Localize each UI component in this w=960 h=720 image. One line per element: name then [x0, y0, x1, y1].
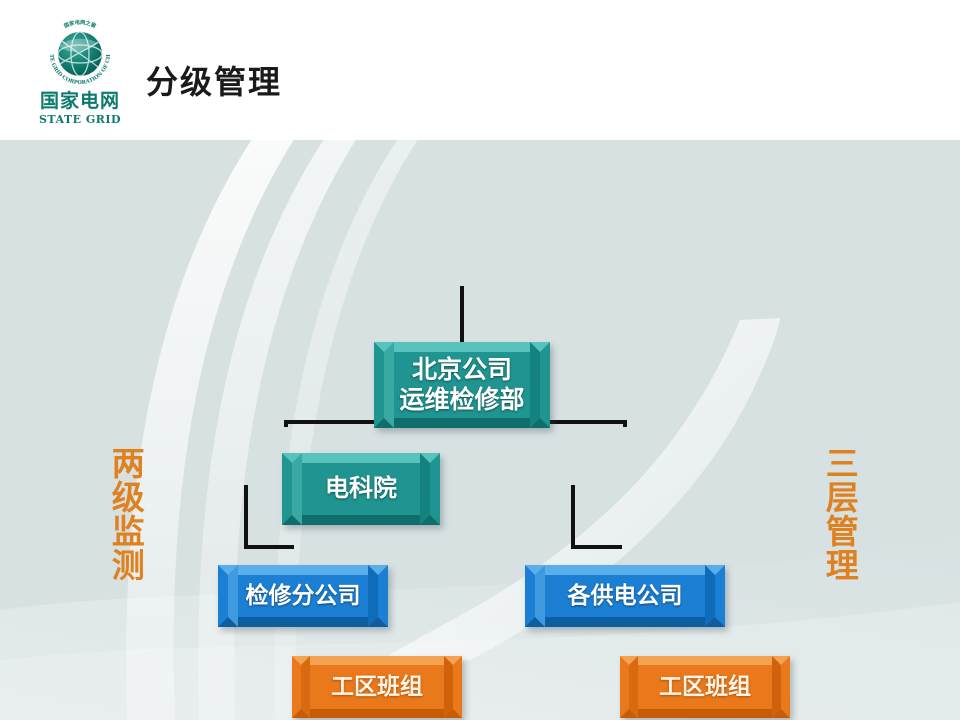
logo-en-name: STATE GRID — [28, 114, 132, 125]
bevel-left — [374, 342, 394, 428]
state-grid-logo-text: 国家电网 STATE GRID — [28, 92, 132, 125]
node-label: 电科院 — [319, 474, 403, 503]
bevel-bottom — [292, 700, 462, 718]
bevel-right — [530, 342, 550, 428]
node-maintenance-branch[interactable]: 检修分公司 — [218, 565, 388, 627]
slide-header: 国家电网之窗 STATE GRID CORPORATION OF CHINA 国… — [0, 0, 960, 140]
bevel-left — [282, 453, 302, 525]
node-electric-power-research-institute[interactable]: 电科院 — [282, 453, 440, 525]
node-label: 检修分公司 — [240, 582, 367, 610]
node-beijing-company[interactable]: 北京公司 运维检修部 — [374, 342, 550, 428]
node-label: 工区班组 — [325, 673, 429, 701]
side-label-three-tier-management: 三层管理 — [818, 446, 860, 582]
bevel-left — [218, 565, 238, 627]
node-label: 工区班组 — [653, 673, 757, 701]
bevel-top — [282, 453, 440, 473]
node-label: 北京公司 运维检修部 — [393, 355, 530, 416]
bevel-top — [620, 656, 790, 674]
node-label: 各供电公司 — [562, 582, 689, 610]
bevel-right — [420, 453, 440, 525]
logo-cn-name: 国家电网 — [28, 92, 132, 111]
page-title: 分级管理 — [146, 66, 282, 98]
bevel-right — [444, 656, 462, 718]
state-grid-logo: 国家电网之窗 STATE GRID CORPORATION OF CHINA 国… — [28, 14, 132, 128]
bevel-top — [292, 656, 462, 674]
state-grid-globe-icon: 国家电网之窗 STATE GRID CORPORATION OF CHINA — [42, 16, 118, 92]
bevel-left — [620, 656, 638, 718]
node-label-line1: 北京公司 — [412, 355, 512, 384]
node-label-line2: 运维检修部 — [399, 385, 524, 414]
connector-lines — [0, 140, 960, 720]
node-power-supply-companies[interactable]: 各供电公司 — [525, 565, 725, 627]
node-work-area-team-right[interactable]: 工区班组 — [620, 656, 790, 718]
node-work-area-team-left[interactable]: 工区班组 — [292, 656, 462, 718]
bevel-right — [772, 656, 790, 718]
bevel-right — [368, 565, 388, 627]
bevel-bottom — [620, 700, 790, 718]
bevel-left — [292, 656, 310, 718]
bevel-left — [525, 565, 545, 627]
svg-text:国家电网之窗: 国家电网之窗 — [63, 18, 98, 30]
side-label-two-level-monitoring: 两级监测 — [104, 446, 146, 582]
slide-body: 北京公司 运维检修部 电科院 检修分公司 各供电公司 — [0, 140, 960, 720]
bevel-right — [705, 565, 725, 627]
bevel-bottom — [282, 505, 440, 525]
slide-root: 北京公司 运维检修部 电科院 检修分公司 各供电公司 — [0, 0, 960, 720]
